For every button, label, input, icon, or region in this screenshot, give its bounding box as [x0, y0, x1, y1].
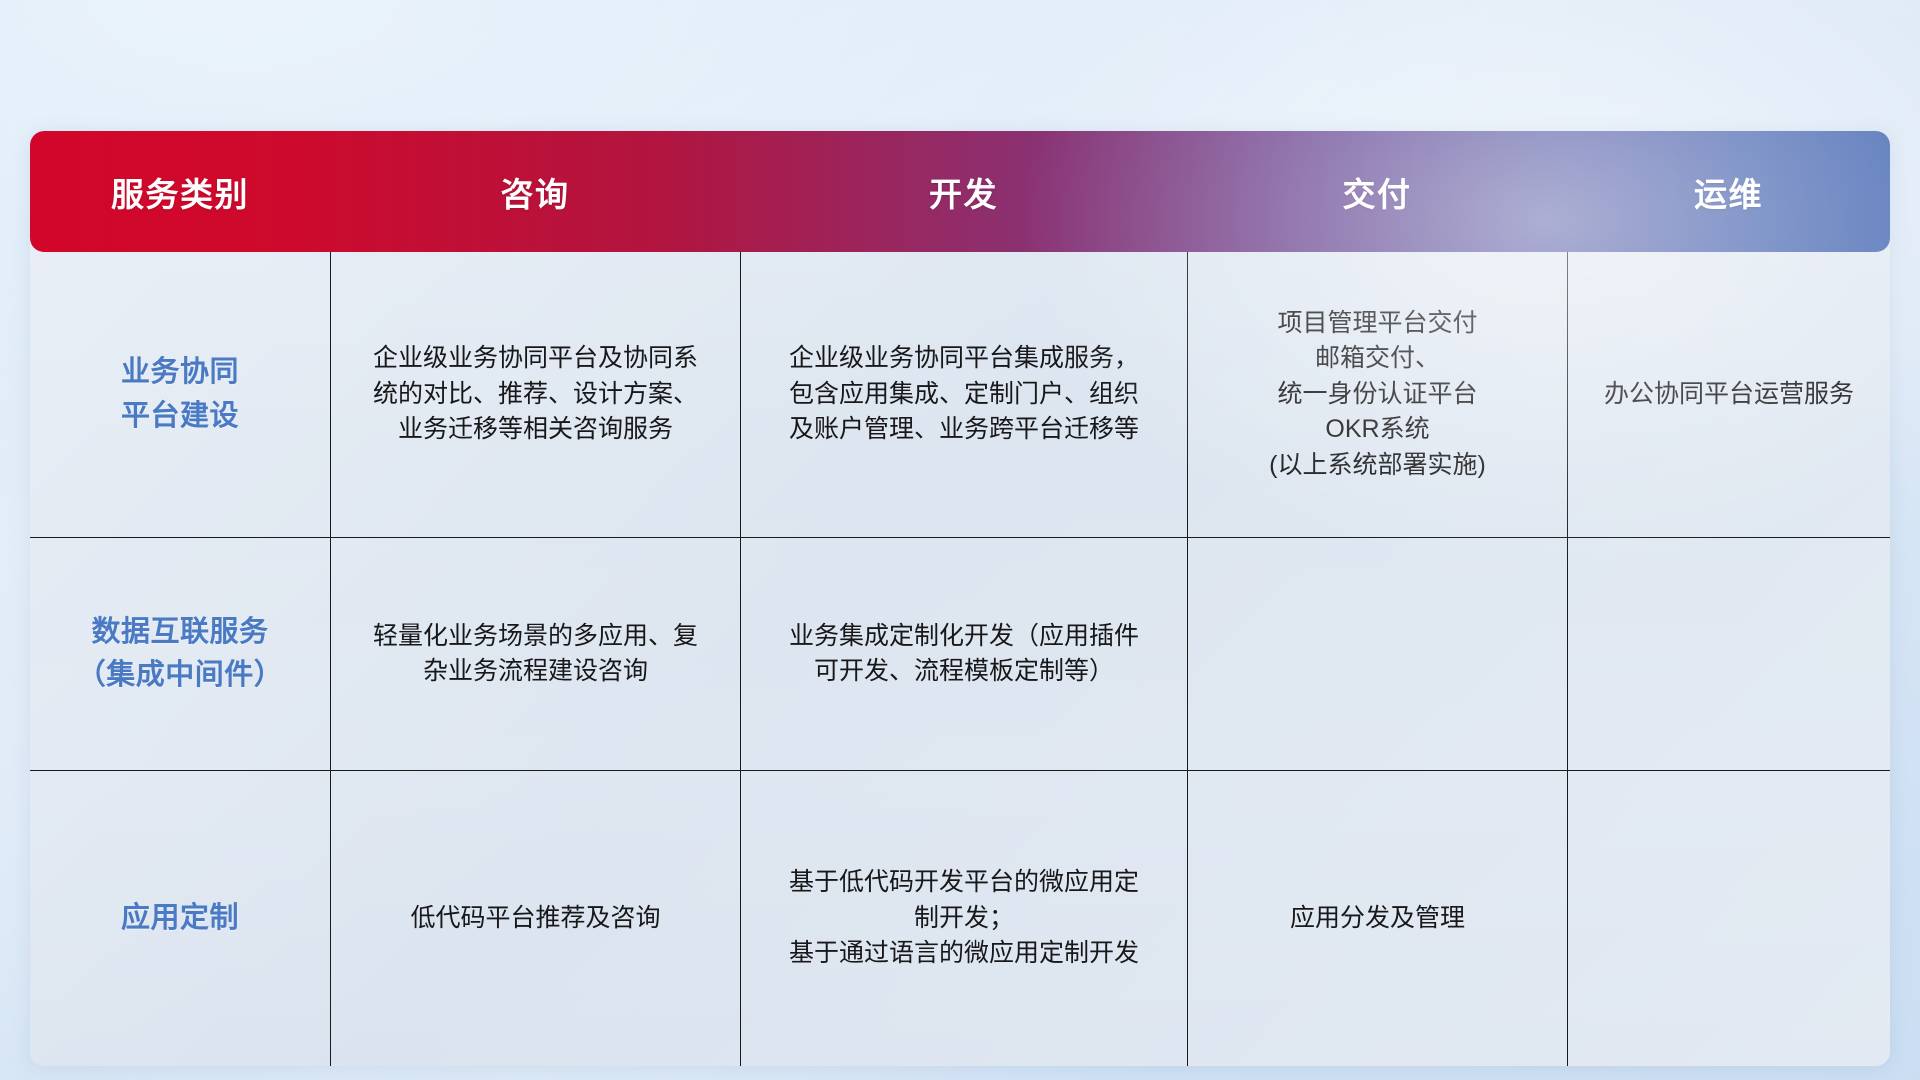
cell-row1-delivery	[1187, 538, 1567, 770]
page-root: 服务类别 咨询 开发 交付 运维 业务协同 平台建设 企业级业务协同平台及协同系…	[0, 0, 1920, 1080]
cell-row2-development: 基于低代码开发平台的微应用定 制开发； 基于通过语言的微应用定制开发	[740, 771, 1187, 1066]
column-header-service-category: 服务类别	[30, 131, 330, 252]
table-row: 应用定制 低代码平台推荐及咨询 基于低代码开发平台的微应用定 制开发； 基于通过…	[30, 770, 1890, 1066]
column-header-delivery: 交付	[1187, 131, 1567, 252]
cell-row2-operations	[1567, 771, 1890, 1066]
table-body: 业务协同 平台建设 企业级业务协同平台及协同系 统的对比、推荐、设计方案、 业务…	[30, 252, 1890, 1066]
cell-row1-development: 业务集成定制化开发（应用插件 可开发、流程模板定制等）	[740, 538, 1187, 770]
table-row: 业务协同 平台建设 企业级业务协同平台及协同系 统的对比、推荐、设计方案、 业务…	[30, 252, 1890, 537]
service-matrix-table: 服务类别 咨询 开发 交付 运维 业务协同 平台建设 企业级业务协同平台及协同系…	[30, 131, 1890, 1066]
row-label-business-collaboration-platform: 业务协同 平台建设	[30, 252, 330, 537]
row-label-data-interconnection-service: 数据互联服务 （集成中间件）	[30, 538, 330, 770]
row-label-application-customization: 应用定制	[30, 771, 330, 1066]
cell-row2-consulting: 低代码平台推荐及咨询	[330, 771, 740, 1066]
column-header-development: 开发	[740, 131, 1187, 252]
cell-row0-development: 企业级业务协同平台集成服务， 包含应用集成、定制门户、组织 及账户管理、业务跨平…	[740, 252, 1187, 537]
cell-row0-consulting: 企业级业务协同平台及协同系 统的对比、推荐、设计方案、 业务迁移等相关咨询服务	[330, 252, 740, 537]
cell-row0-operations: 办公协同平台运营服务	[1567, 252, 1890, 537]
cell-row1-operations	[1567, 538, 1890, 770]
cell-row2-delivery: 应用分发及管理	[1187, 771, 1567, 1066]
cell-row0-delivery: 项目管理平台交付 邮箱交付、 统一身份认证平台 OKR系统 (以上系统部署实施)	[1187, 252, 1567, 537]
cell-row1-consulting: 轻量化业务场景的多应用、复 杂业务流程建设咨询	[330, 538, 740, 770]
column-header-consulting: 咨询	[330, 131, 740, 252]
table-row: 数据互联服务 （集成中间件） 轻量化业务场景的多应用、复 杂业务流程建设咨询 业…	[30, 537, 1890, 770]
table-header-row: 服务类别 咨询 开发 交付 运维	[30, 131, 1890, 252]
column-header-operations: 运维	[1567, 131, 1890, 252]
